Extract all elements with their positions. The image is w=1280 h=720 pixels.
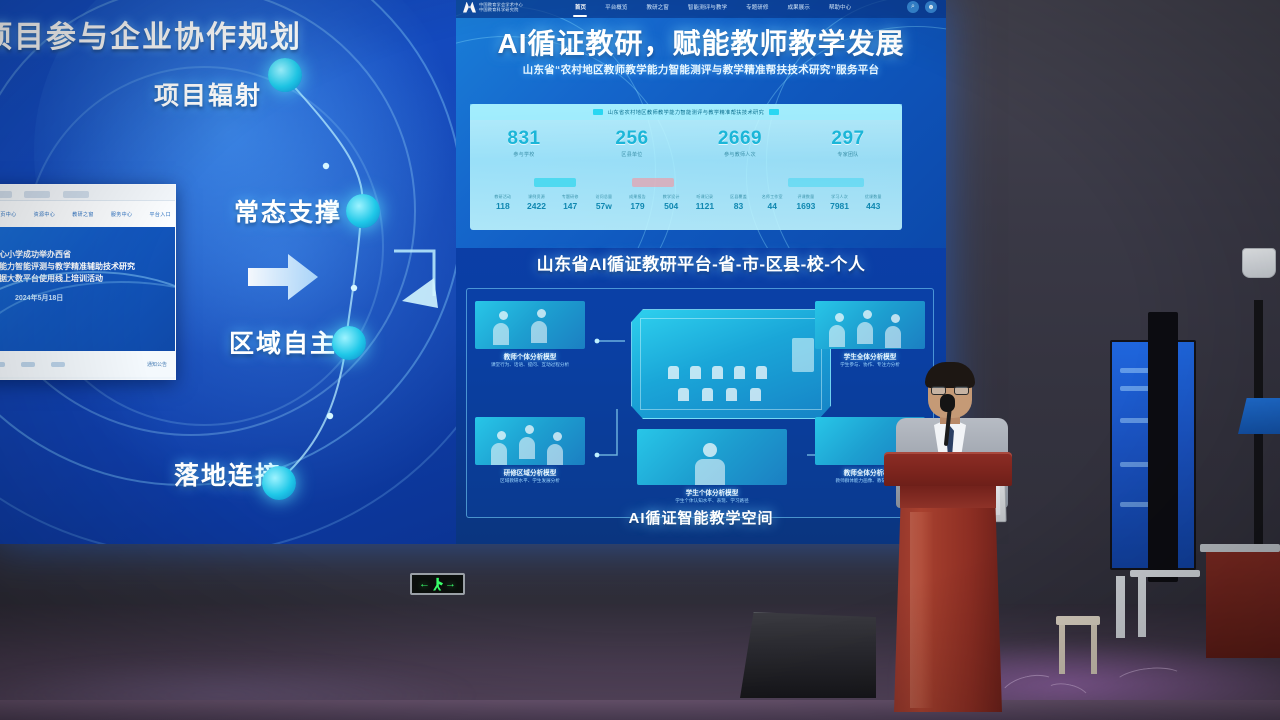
hero-subtitle: 山东省“农村地区教师教学能力智能测评与教学精准帮扶技术研究”服务平台 xyxy=(456,62,946,77)
left-slide-title: 项目参与企业协作规划 xyxy=(0,12,354,56)
slide-node-dot xyxy=(262,466,296,500)
card-thumbnail xyxy=(815,301,925,349)
stat-caption: 参与学校 xyxy=(470,151,578,158)
stat-value: 831 xyxy=(470,128,578,150)
sub-stat: 专题研修 147 xyxy=(553,194,587,211)
nav-item-results[interactable]: 成果展示 xyxy=(787,3,809,11)
arrow-right-icon: → xyxy=(445,579,456,590)
user-avatar-icon[interactable]: ☻ xyxy=(925,1,937,13)
nav-item-home[interactable]: 首页 xyxy=(575,3,586,11)
sub-stat-label: 学习人次 xyxy=(823,194,857,200)
nav-item-help[interactable]: 帮助中心 xyxy=(829,3,851,11)
wooden-stool xyxy=(1056,616,1100,674)
sub-stat: 成果报告 179 xyxy=(621,194,655,211)
platform-hero: 中国教育学会学术中心 中国教育科学研究院 首页 平台概览 教研之窗 智能测评与教… xyxy=(456,0,946,248)
logo-line-2: 中国教育科学研究院 xyxy=(479,7,523,12)
card-subtitle: 学生个体认知水平、表现、学习路径 xyxy=(637,498,787,504)
slide-node-label-3: 区域自主 xyxy=(229,324,337,360)
stat-cell: 2669 参与教师人次 xyxy=(686,128,794,158)
hero-title: AI循证教研，赋能教师教学发展 xyxy=(456,22,946,62)
running-person-icon xyxy=(432,578,443,591)
logo-mark-icon xyxy=(463,2,476,13)
embedded-nav-item: 服务中心 xyxy=(111,211,133,218)
stage-monitor-speaker xyxy=(740,612,876,698)
stat-value: 297 xyxy=(794,128,902,150)
sub-stat-value: 2422 xyxy=(520,201,554,211)
sub-stat: 名师工作室 44 xyxy=(755,194,789,211)
flow-arrow-icon xyxy=(248,254,318,300)
sub-stat-label: 专题研修 xyxy=(553,194,587,200)
embedded-screenshot: 首页中心 资源中心 教研之窗 服务中心 平台入口 中心小学成功举办西省 学能力智… xyxy=(0,184,176,380)
strip-chip xyxy=(769,109,779,115)
stat-tab[interactable] xyxy=(534,178,576,187)
card-thumbnail xyxy=(475,301,585,349)
statistics-panel: 山东省农村地区教师教学能力智能测评与教学精准帮扶技术研究 831 参与学校 25… xyxy=(470,104,902,230)
slide-node-dot xyxy=(268,58,302,92)
footer-block xyxy=(21,362,35,367)
space-card-region[interactable]: 研修区域分析模型 区域教研水平、学生发展分析 xyxy=(475,417,585,484)
sub-stat: 访问总量 57w xyxy=(587,194,621,211)
sub-stat-value: 57w xyxy=(587,201,621,211)
nav-item-research[interactable]: 教研之窗 xyxy=(646,3,668,11)
slide-node-label-1: 项目辐射 xyxy=(154,76,262,112)
sub-stat-label: 访问总量 xyxy=(587,194,621,200)
confidence-monitor-front xyxy=(1148,312,1178,582)
sub-stat-value: 1121 xyxy=(688,201,722,211)
sub-stat-label: 名师工作室 xyxy=(755,194,789,200)
embedded-nav-item: 平台入口 xyxy=(149,211,171,218)
secondary-statistics-row: 教研活动 118 课例资源 2422 专题研修 147 访问总量 xyxy=(486,194,890,211)
sub-stat-label: 听课记录 xyxy=(688,194,722,200)
sub-stat-label: 教学设计 xyxy=(654,194,688,200)
microphone-icon xyxy=(940,394,955,412)
card-subtitle: 区域教研水平、学生发展分析 xyxy=(475,478,585,484)
space-card-teacher-individual[interactable]: 教师个体分析模型 课堂行为、话语、提问、互动过程分析 xyxy=(475,301,585,368)
sub-stat-value: 504 xyxy=(654,201,688,211)
sub-stat: 课例资源 2422 xyxy=(520,194,554,211)
card-thumbnail xyxy=(637,429,787,485)
card-subtitle: 课堂行为、话语、提问、互动过程分析 xyxy=(475,362,585,368)
stool-seat xyxy=(1056,616,1100,625)
embedded-nav-item: 资源中心 xyxy=(34,211,56,218)
slide-node-dot xyxy=(346,194,380,228)
platform-navbar: 中国教育学会学术中心 中国教育科学研究院 首页 平台概览 教研之窗 智能测评与教… xyxy=(456,0,946,18)
sub-stat-value: 44 xyxy=(755,201,789,211)
main-led-screen: 项目参与企业协作规划 项目辐射 常态支撑 区域自主 落地连接 xyxy=(0,0,946,544)
footer-block xyxy=(0,362,5,367)
stat-caption: 区县单位 xyxy=(578,151,686,158)
presenter-hair xyxy=(925,362,975,388)
browser-tab xyxy=(24,191,50,198)
podium-top xyxy=(884,452,1012,486)
embedded-nav-item: 教研之窗 xyxy=(72,211,94,218)
browser-tab-bar xyxy=(0,185,175,201)
monitor-stand-leg xyxy=(1138,577,1146,637)
slide-node-label-2: 常态支撑 xyxy=(234,193,342,229)
emergency-exit-sign: ← → xyxy=(410,573,465,595)
space-card-student-group[interactable]: 学生全体分析模型 学生参与、协作、专注力分析 xyxy=(815,301,925,368)
platform-logo[interactable]: 中国教育学会学术中心 中国教育科学研究院 xyxy=(463,2,523,13)
statistics-strip: 山东省农村地区教师教学能力智能测评与教学精准帮扶技术研究 xyxy=(470,104,902,120)
sub-stat-value: 147 xyxy=(553,201,587,211)
sub-stat: 学习人次 7981 xyxy=(823,194,857,211)
side-table xyxy=(1206,548,1280,658)
sub-stat-label: 成果报告 xyxy=(621,194,655,200)
embedded-footer-note: 通知公告 xyxy=(147,361,167,368)
monitor-stand-arm xyxy=(1130,570,1200,577)
stat-value: 2669 xyxy=(686,128,794,150)
sub-stat-value: 443 xyxy=(856,201,890,211)
monitor-stand-leg xyxy=(1116,576,1125,638)
podium xyxy=(888,452,1008,712)
sub-stat-value: 118 xyxy=(486,201,520,211)
side-table-top xyxy=(1200,544,1280,552)
card-title: 学生个体分析模型 xyxy=(637,487,787,497)
sub-stat-label: 教研活动 xyxy=(486,194,520,200)
navbar-actions: ⌕ ☻ xyxy=(907,1,937,13)
sub-stat-value: 7981 xyxy=(823,201,857,211)
primary-statistics-row: 831 参与学校 256 区县单位 2669 参与教师人次 297 xyxy=(470,128,902,158)
arrow-left-icon: ← xyxy=(419,579,430,590)
embedded-nav-item: 首页中心 xyxy=(0,211,17,218)
browser-tab xyxy=(0,191,12,198)
conference-stage-scene: 项目参与企业协作规划 项目辐射 常态支撑 区域自主 落地连接 xyxy=(0,0,1280,720)
nav-item-assessment[interactable]: 智能测评与教学 xyxy=(688,3,727,11)
search-icon[interactable]: ⌕ xyxy=(907,1,919,13)
stage-light-icon xyxy=(1242,248,1276,278)
statistics-tab-bars xyxy=(534,178,864,191)
embedded-banner: 中心小学成功举办西省 学能力智能评测与教学精准辅助技术研究 数据大数平台使用线上… xyxy=(0,227,175,351)
sub-stat: 教研活动 118 xyxy=(486,194,520,211)
sub-stat-label: 优课数量 xyxy=(856,194,890,200)
platform-nav-menu: 首页 平台概览 教研之窗 智能测评与教学 专题研修 成果展示 帮助中心 xyxy=(575,3,851,11)
podium-highlight xyxy=(910,512,934,708)
stat-caption: 参与教师人次 xyxy=(686,151,794,158)
statistics-strip-label: 山东省农村地区教师教学能力智能测评与教学精准帮扶技术研究 xyxy=(608,109,764,116)
embedded-nav: 首页中心 资源中心 教研之窗 服务中心 平台入口 xyxy=(0,201,175,227)
nav-item-overview[interactable]: 平台概览 xyxy=(605,3,627,11)
sub-stat-label: 区县覆盖 xyxy=(722,194,756,200)
sub-stat: 听课记录 1121 xyxy=(688,194,722,211)
sub-stat-label: 课例资源 xyxy=(520,194,554,200)
light-stand-pole xyxy=(1254,300,1263,570)
stat-cell: 297 专家团队 xyxy=(794,128,902,158)
sub-stat-value: 1693 xyxy=(789,201,823,211)
card-title: 研修区域分析模型 xyxy=(475,467,585,477)
nav-item-training[interactable]: 专题研修 xyxy=(746,3,768,11)
platform-band-title: 山东省AI循证教研平台-省-市-区县-校-个人 xyxy=(456,250,946,275)
stat-value: 256 xyxy=(578,128,686,150)
stat-tab[interactable] xyxy=(788,178,864,187)
stat-caption: 专家团队 xyxy=(794,151,902,158)
sub-stat-value: 83 xyxy=(722,201,756,211)
embedded-banner-line: 中心小学成功举办西省 xyxy=(0,227,175,261)
space-card-student-individual[interactable]: 学生个体分析模型 学生个体认知水平、表现、学习路径 xyxy=(637,429,787,504)
card-title: 教师个体分析模型 xyxy=(475,351,585,361)
stat-tab[interactable] xyxy=(632,178,674,187)
sub-stat-value: 179 xyxy=(621,201,655,211)
teaching-space-diagram: 教师个体分析模型 课堂行为、话语、提问、互动过程分析 学生全体分析模型 学生参与… xyxy=(466,288,934,518)
strip-chip xyxy=(593,109,603,115)
sub-stat: 评课数量 1693 xyxy=(789,194,823,211)
podium-neck xyxy=(900,486,996,508)
footer-block xyxy=(51,362,65,367)
stool-leg xyxy=(1059,625,1065,674)
slide-node-dot xyxy=(332,326,366,360)
sub-stat: 教学设计 504 xyxy=(654,194,688,211)
platform-page-panel: 中国教育学会学术中心 中国教育科学研究院 首页 平台概览 教研之窗 智能测评与教… xyxy=(456,0,946,544)
sub-stat: 优课数量 443 xyxy=(856,194,890,211)
card-thumbnail xyxy=(475,417,585,465)
stat-cell: 831 参与学校 xyxy=(470,128,578,158)
sub-stat-label: 评课数量 xyxy=(789,194,823,200)
smart-classroom-illustration xyxy=(631,309,831,419)
browser-tab xyxy=(63,191,89,198)
stat-cell: 256 区县单位 xyxy=(578,128,686,158)
teaching-space-caption: AI循证智能教学空间 xyxy=(456,507,946,528)
embedded-footer: 通知公告 xyxy=(0,351,175,377)
left-slide-panel: 项目参与企业协作规划 项目辐射 常态支撑 区域自主 落地连接 xyxy=(0,0,456,544)
sub-stat: 区县覆盖 83 xyxy=(722,194,756,211)
stool-leg xyxy=(1091,625,1097,674)
